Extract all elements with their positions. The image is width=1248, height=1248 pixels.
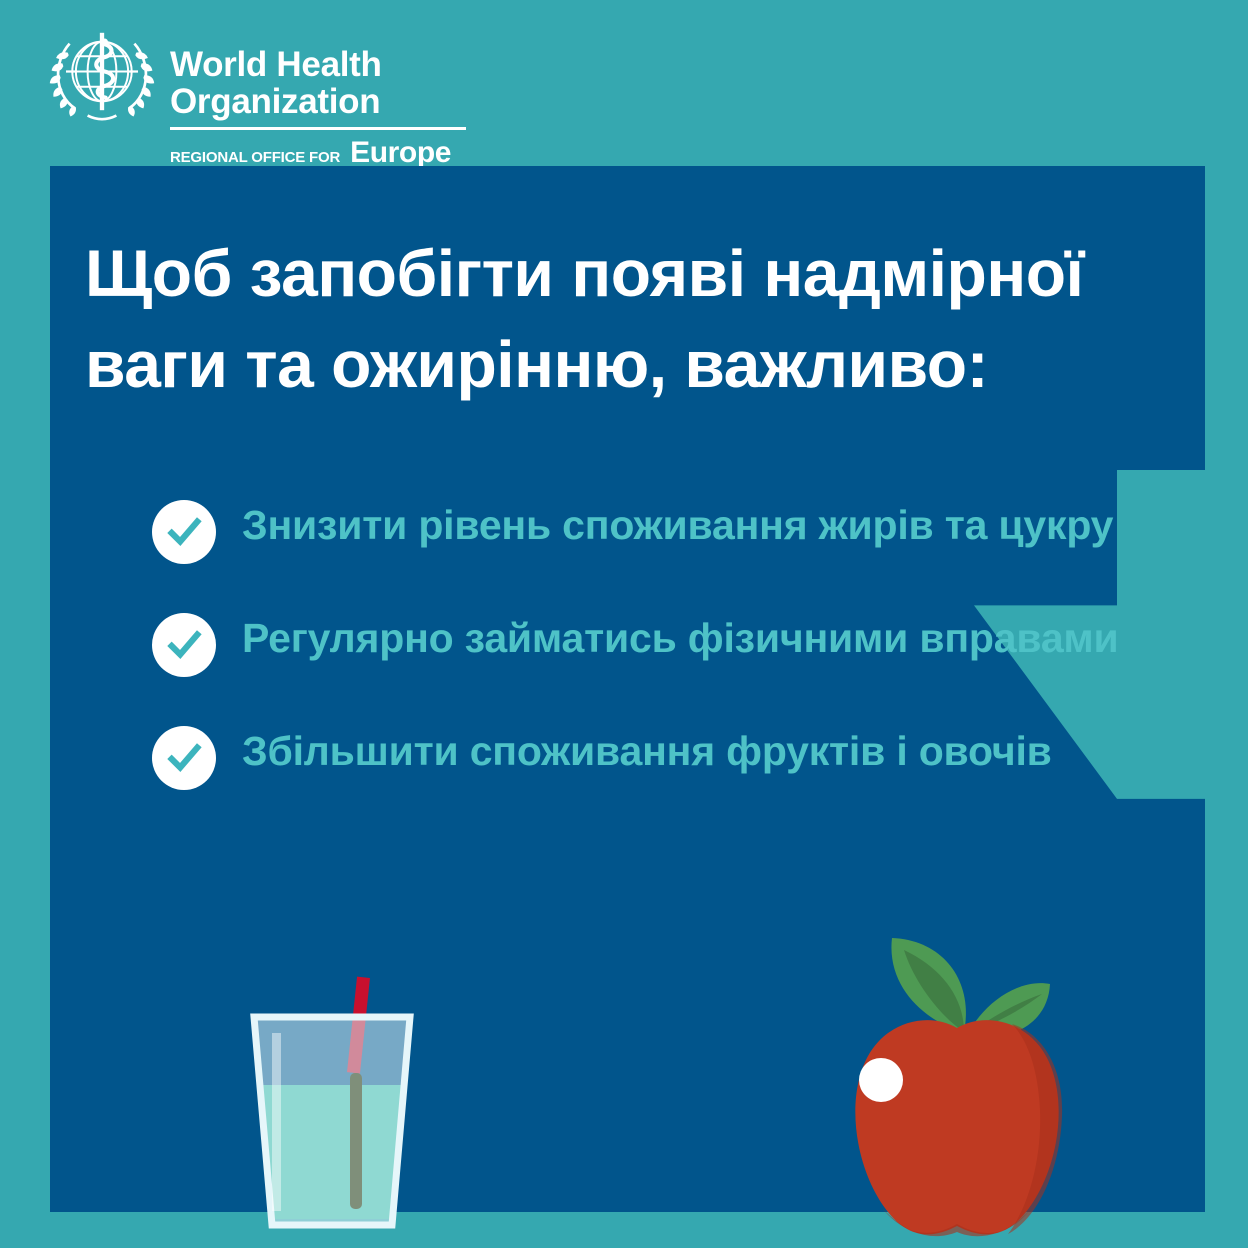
- check-circle-icon: [152, 726, 216, 790]
- check-circle-icon: [152, 500, 216, 564]
- check-circle-icon: [152, 613, 216, 677]
- region-name-europe: Europe: [350, 136, 451, 170]
- page-title: Щоб запобігти появі надмірної ваги та ож…: [85, 228, 1095, 410]
- who-emblem-icon: [48, 22, 156, 130]
- recommendations-list: Знизити рівень споживання жирів та цукру…: [152, 498, 1192, 837]
- list-item: Регулярно займатись фізичними вправами: [152, 611, 1192, 677]
- content-panel-right-fill: [1117, 166, 1205, 470]
- list-item: Знизити рівень споживання жирів та цукру: [152, 498, 1192, 564]
- list-item-label: Знизити рівень споживання жирів та цукру: [242, 498, 1113, 554]
- who-name-line2: Organization: [170, 83, 466, 120]
- who-name-line1: World Health: [170, 46, 466, 83]
- logo-divider: [170, 127, 466, 130]
- red-apple-icon: [812, 920, 1102, 1248]
- who-wordmark: World Health Organization REGIONAL OFFIC…: [170, 22, 466, 170]
- regional-office-label: REGIONAL OFFICE FOR: [170, 149, 340, 166]
- who-logo: World Health Organization REGIONAL OFFIC…: [48, 22, 466, 170]
- glass-of-water-icon: [232, 975, 432, 1248]
- list-item: Збільшити споживання фруктів і овочів: [152, 724, 1192, 790]
- list-item-label: Регулярно займатись фізичними вправами: [242, 611, 1119, 667]
- list-item-label: Збільшити споживання фруктів і овочів: [242, 724, 1052, 780]
